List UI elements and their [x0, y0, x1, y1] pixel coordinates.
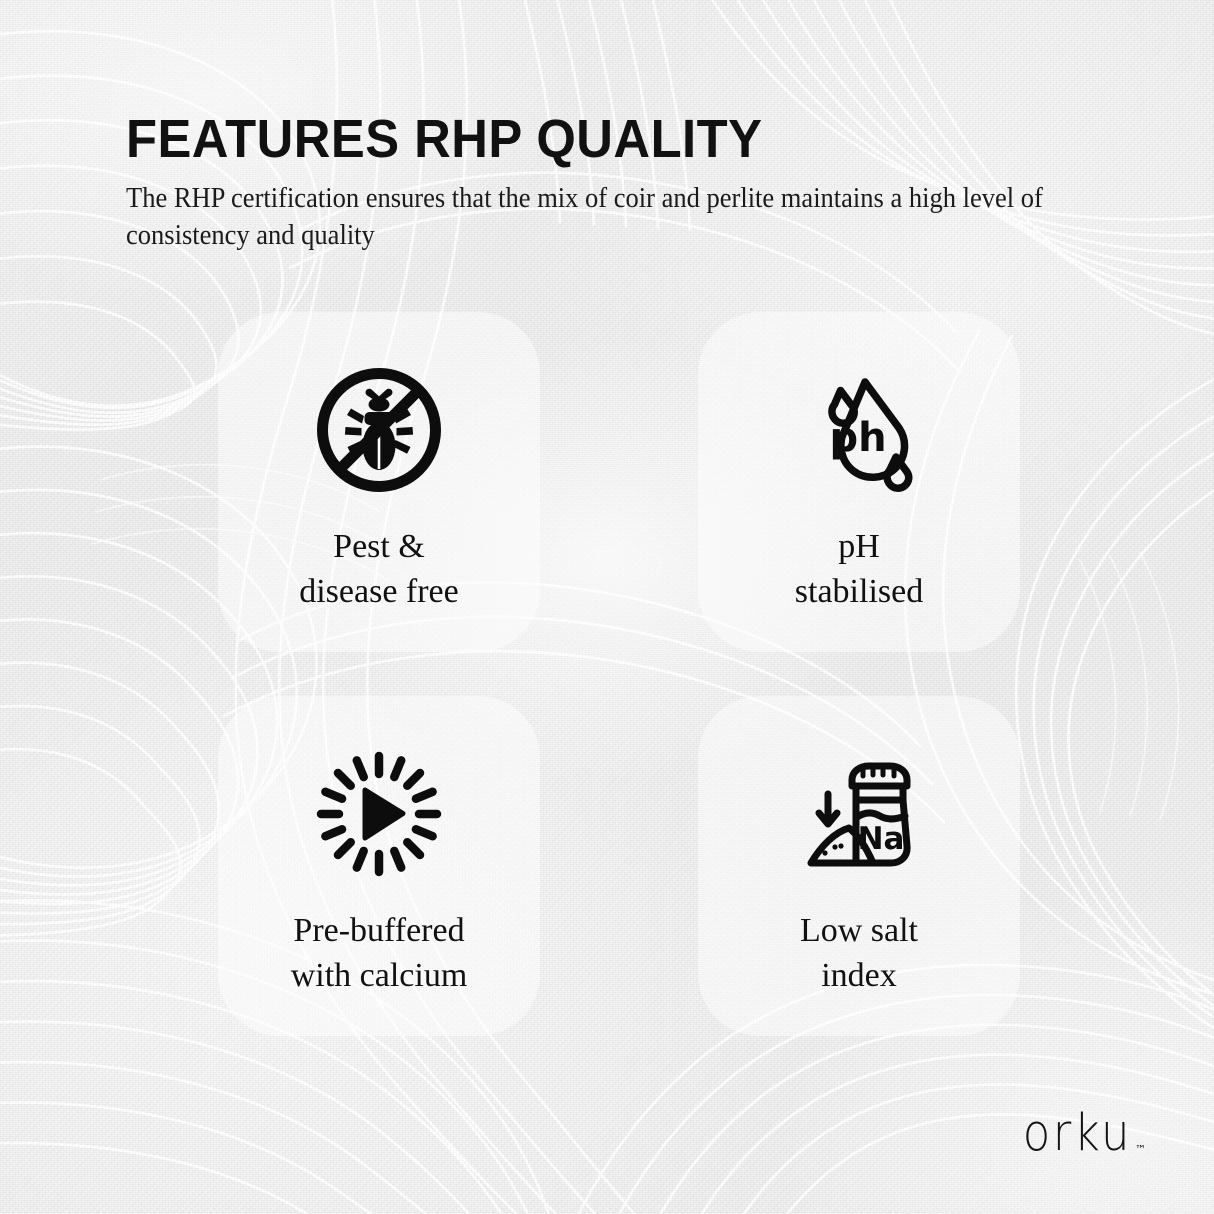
buffering-play-icon — [313, 748, 445, 880]
feature-grid: Pest & disease free ph pH — [218, 312, 1048, 1036]
header: FEATURES RHP QUALITY The RHP certificati… — [126, 112, 1106, 254]
page-subtitle: The RHP certification ensures that the m… — [126, 180, 1047, 254]
buffering-play-icon-svg — [315, 750, 443, 878]
ph-icon-text: ph — [829, 415, 886, 461]
salt-shaker-icon: Na — [793, 748, 925, 880]
feature-label: Pest & disease free — [299, 524, 459, 614]
feature-card-pest-disease-free: Pest & disease free — [218, 312, 540, 652]
no-pest-icon — [313, 364, 445, 496]
salt-shaker-icon-svg: Na — [795, 750, 923, 878]
feature-card-ph-stabilised: ph pH stabilised — [698, 312, 1020, 652]
feature-card-pre-buffered: Pre-buffered with calcium — [218, 696, 540, 1036]
na-icon-text: Na — [858, 821, 905, 857]
play-triangle — [365, 790, 403, 838]
feature-label: pH stabilised — [795, 524, 923, 614]
logo-wordmark: orku — [1023, 1108, 1132, 1158]
poster-canvas: FEATURES RHP QUALITY The RHP certificati… — [0, 0, 1214, 1214]
feature-label: Low salt index — [800, 908, 918, 998]
feature-label: Pre-buffered with calcium — [291, 908, 468, 998]
no-pest-icon-svg — [315, 366, 443, 494]
page-title: FEATURES RHP QUALITY — [126, 112, 1047, 166]
ph-droplet-icon: ph — [793, 364, 925, 496]
ph-droplet-icon-svg: ph — [795, 366, 923, 494]
brand-logo: orku ™ — [1023, 1113, 1146, 1158]
feature-card-low-salt-index: Na Low salt index — [698, 696, 1020, 1036]
trademark-symbol: ™ — [1135, 1143, 1146, 1156]
